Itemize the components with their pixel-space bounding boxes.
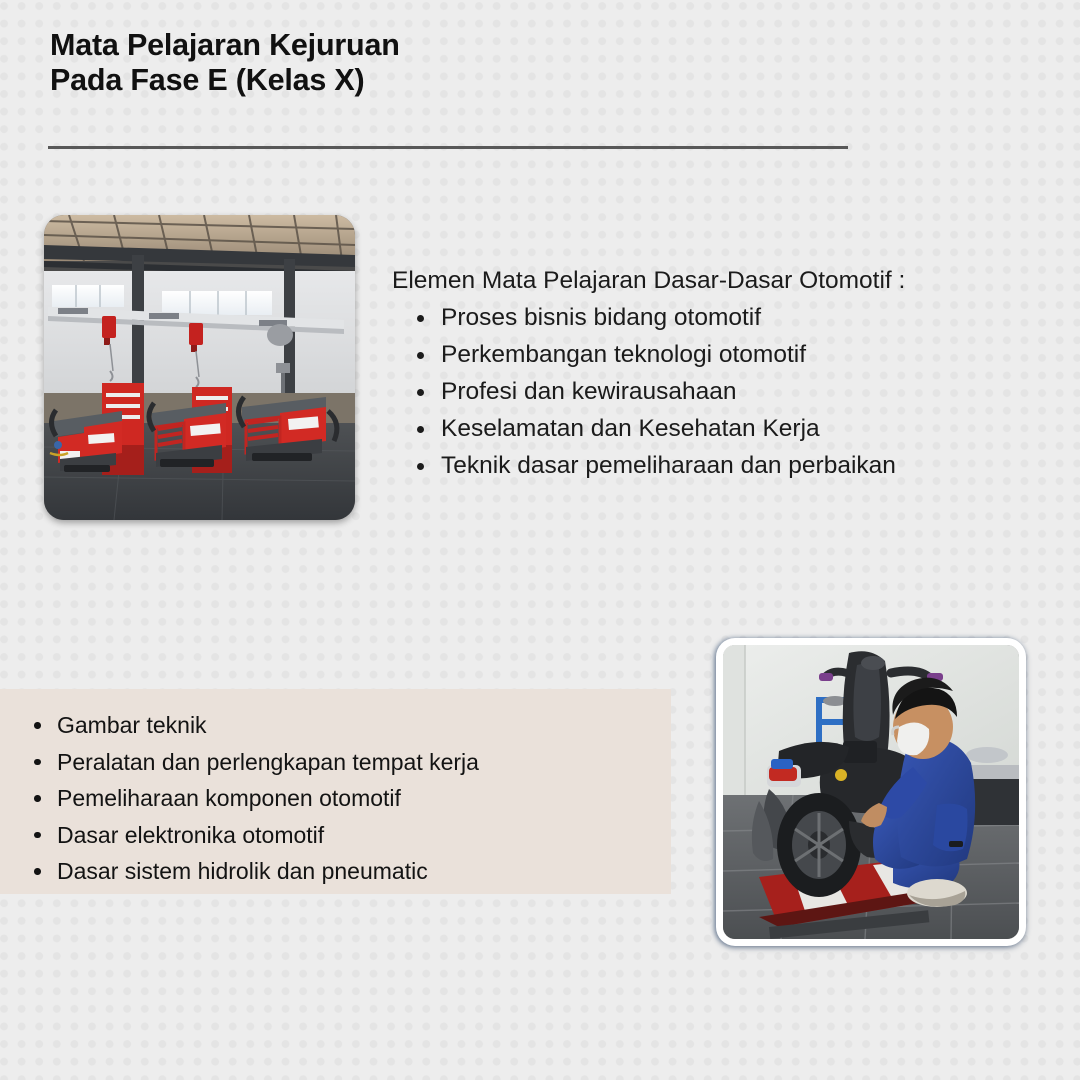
- list-item: Gambar teknik: [33, 707, 479, 744]
- slide-canvas: Mata Pelajaran Kejuruan Pada Fase E (Kel…: [0, 0, 1080, 1080]
- student-photo-illustration: [723, 645, 1019, 939]
- list-item: Teknik dasar pemeliharaan dan perbaikan: [415, 447, 1032, 484]
- list-item: Profesi dan kewirausahaan: [415, 373, 1032, 410]
- list-item: Peralatan dan perlengkapan tempat kerja: [33, 744, 479, 781]
- list-item: Perkembangan teknologi otomotif: [415, 336, 1032, 373]
- workshop-photo: [44, 215, 355, 520]
- student-photo: [716, 638, 1026, 946]
- list-item: Pemeliharaan komponen otomotif: [33, 780, 479, 817]
- elements-list: Proses bisnis bidang otomotif Perkembang…: [392, 299, 1032, 484]
- title-divider: [48, 146, 848, 149]
- list-item: Proses bisnis bidang otomotif: [415, 299, 1032, 336]
- list-item: Dasar sistem hidrolik dan pneumatic: [33, 853, 479, 890]
- student-photo-frame: [723, 645, 1019, 939]
- elements-section: Elemen Mata Pelajaran Dasar-Dasar Otomot…: [392, 262, 1032, 484]
- elements-heading: Elemen Mata Pelajaran Dasar-Dasar Otomot…: [392, 262, 1032, 299]
- title-line-1: Mata Pelajaran Kejuruan: [50, 28, 750, 63]
- beige-panel-list: Gambar teknik Peralatan dan perlengkapan…: [33, 707, 479, 890]
- title-line-2: Pada Fase E (Kelas X): [50, 63, 750, 98]
- page-title: Mata Pelajaran Kejuruan Pada Fase E (Kel…: [50, 28, 750, 98]
- list-item: Keselamatan dan Kesehatan Kerja: [415, 410, 1032, 447]
- list-item: Dasar elektronika otomotif: [33, 817, 479, 854]
- beige-panel: Gambar teknik Peralatan dan perlengkapan…: [0, 689, 671, 894]
- workshop-photo-illustration: [44, 215, 355, 520]
